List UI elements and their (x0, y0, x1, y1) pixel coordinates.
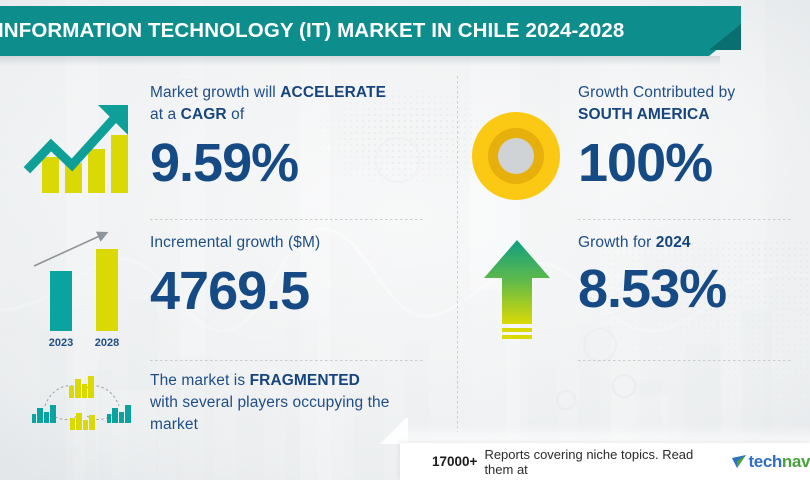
row-divider-left-1 (150, 219, 425, 220)
footer-report-count: 17000+ (432, 454, 477, 469)
bar-2028 (96, 249, 118, 331)
cagr-caption-text-1: Market growth will (150, 84, 280, 101)
technavio-wordmark: technav (749, 452, 810, 472)
city-cluster-bottom (70, 413, 95, 430)
contribution-text-1: Growth Contributed by (578, 84, 735, 101)
footer-shade (400, 425, 810, 443)
city-cluster-icon (25, 372, 137, 434)
up-arrow-icon (482, 238, 552, 344)
bar-label-2023: 2023 (49, 337, 73, 349)
column-divider (457, 76, 458, 432)
cagr-caption-text-3: of (227, 106, 245, 123)
incremental-caption: Incremental growth ($M) (150, 232, 450, 254)
panel-growth-contribution: Growth Contributed by SOUTH AMERICA 100% (578, 82, 803, 190)
city-cluster-left (32, 405, 56, 423)
bar-2023 (50, 271, 72, 331)
technavio-logo[interactable]: technav (731, 452, 810, 472)
infographic-canvas: INFORMATION TECHNOLOGY (IT) MARKET IN CH… (0, 0, 810, 480)
city-cluster-right (107, 405, 131, 423)
technavio-arrow-icon (731, 453, 748, 470)
incremental-value: 4769.5 (150, 264, 450, 318)
cagr-caption-cagr: CAGR (181, 106, 227, 123)
cagr-caption: Market growth will ACCELERATE at a CAGR … (150, 82, 450, 126)
footer-bar: 17000+ Reports covering niche topics. Re… (400, 443, 810, 480)
city-cluster-top (69, 376, 94, 398)
row-divider-right-2 (578, 360, 793, 361)
contribution-value: 100% (578, 136, 803, 190)
bar-label-2028: 2028 (95, 337, 119, 349)
footer-tagline: Reports covering niche topics. Read them… (484, 447, 716, 477)
panel-incremental-growth: Incremental growth ($M) 4769.5 (150, 232, 450, 318)
row-divider-left-2 (150, 360, 425, 361)
banner-dropshadow (0, 56, 720, 66)
fragmentation-text-2: with several players occupying the (150, 394, 389, 411)
page-title: INFORMATION TECHNOLOGY (IT) MARKET IN CH… (0, 19, 624, 43)
contribution-caption: Growth Contributed by SOUTH AMERICA (578, 82, 803, 126)
cagr-value: 9.59% (150, 136, 450, 190)
row-divider-right-1 (578, 219, 793, 220)
fragmentation-text-1: The market is (150, 372, 250, 389)
growth2024-year: 2024 (656, 234, 691, 251)
panel-cagr: Market growth will ACCELERATE at a CAGR … (150, 82, 450, 190)
panel-growth-2024: Growth for 2024 8.53% (578, 232, 803, 316)
bar-pair-icon: 2023 2028 (22, 228, 142, 353)
donut-chart-icon (470, 110, 562, 202)
contribution-region: SOUTH AMERICA (578, 106, 710, 123)
growth-chart-icon (20, 95, 150, 205)
logo-text-nav: nav (782, 452, 810, 471)
logo-text-tech: tech (749, 452, 782, 471)
footer-fold-corner (378, 418, 408, 444)
header-banner: INFORMATION TECHNOLOGY (IT) MARKET IN CH… (0, 6, 741, 56)
growth2024-value: 8.53% (578, 262, 803, 316)
cagr-caption-accelerate: ACCELERATE (280, 84, 386, 101)
growth2024-caption: Growth for 2024 (578, 232, 803, 254)
cagr-caption-text-2: at a (150, 106, 181, 123)
fragmentation-bold: FRAGMENTED (250, 372, 360, 389)
growth2024-text: Growth for (578, 234, 656, 251)
fragmentation-text-3: market (150, 416, 198, 433)
